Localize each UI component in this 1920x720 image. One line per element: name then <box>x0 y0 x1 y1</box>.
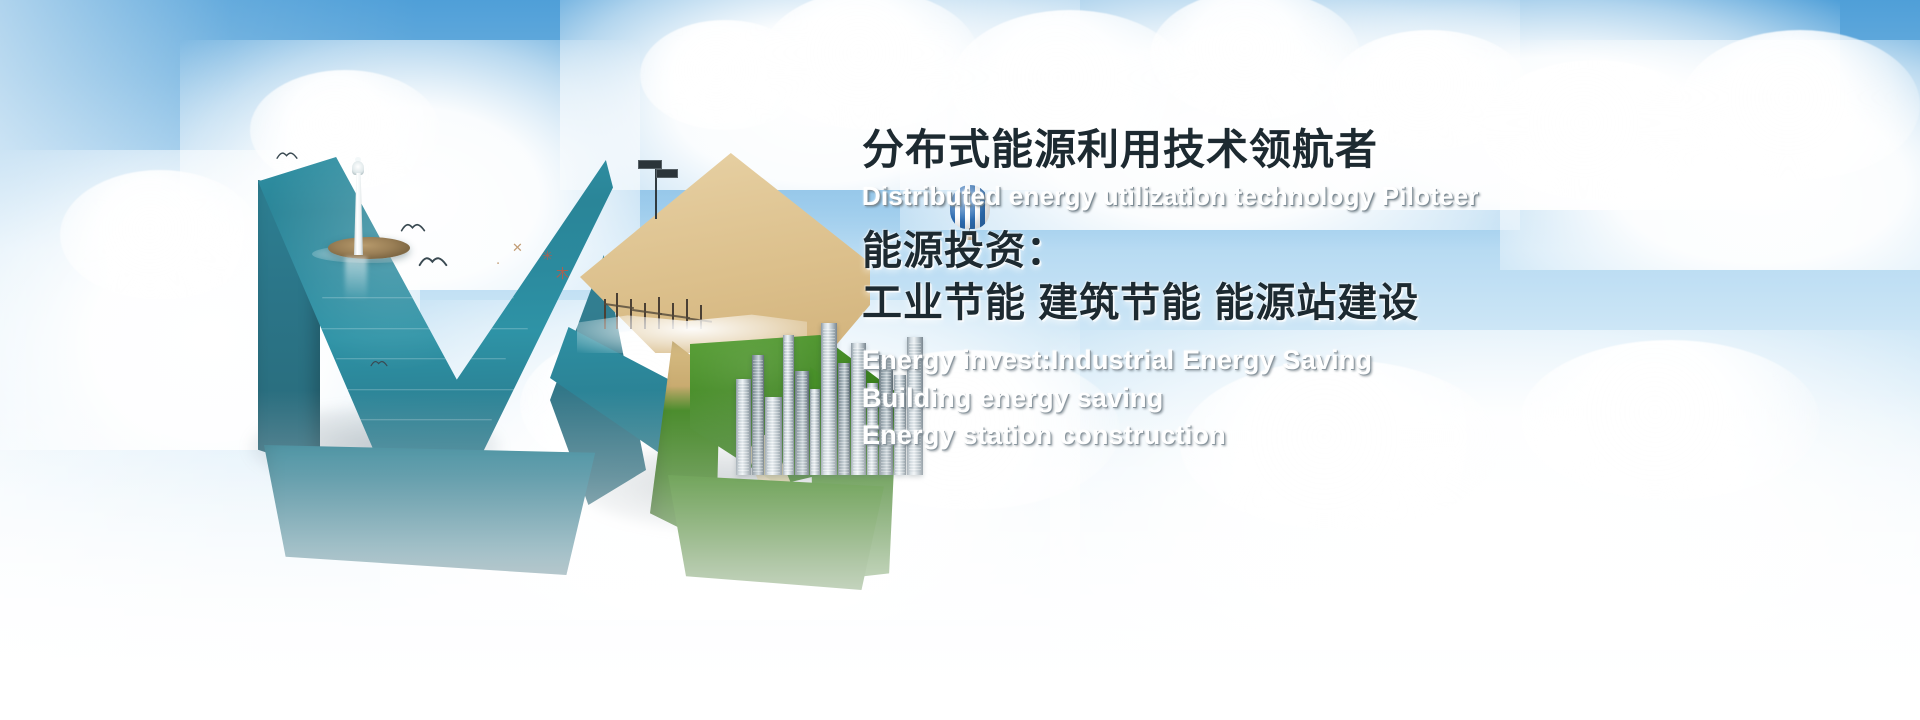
grass-front-face <box>668 475 893 590</box>
sand-marking: · <box>496 257 500 272</box>
services-english-line-2: Building energy saving <box>862 380 1862 417</box>
rocky-island <box>328 237 410 259</box>
ocean-front-face <box>264 445 624 575</box>
lighthouse-icon <box>350 157 366 257</box>
skyscraper <box>752 355 764 475</box>
seagull-icon <box>418 255 448 267</box>
skyscraper <box>736 379 751 475</box>
signpost-icon <box>638 155 682 219</box>
seagull-icon <box>370 360 388 367</box>
section-label-chinese: 能源投资： <box>862 229 1862 274</box>
headline-chinese: 分布式能源利用技术领航者 <box>862 128 1862 172</box>
lighthouse-reflection <box>345 257 367 301</box>
headline-english: Distributed energy utilization technolog… <box>862 182 1862 211</box>
services-english-line-3: Energy station construction <box>862 417 1862 454</box>
skyscraper <box>765 397 782 475</box>
w-letter-diorama: ✕✳木· <box>250 145 850 480</box>
skyscraper <box>838 363 850 475</box>
skyscraper <box>795 371 809 475</box>
sand-marking: ✕ <box>512 241 523 256</box>
skyscraper <box>783 335 794 475</box>
seagull-icon <box>400 222 425 232</box>
sand-marking: ✳ <box>542 249 553 264</box>
seagull-icon <box>276 151 298 160</box>
skyscraper <box>810 389 820 475</box>
services-chinese: 工业节能 建筑节能 能源站建设 <box>862 281 1862 326</box>
skyscraper <box>821 323 837 475</box>
hero-banner: ✕✳木· 分布式能源利用技术领航者 Distributed <box>0 0 1920 720</box>
sand-marking: 木 <box>556 263 569 282</box>
services-english-line-1: Energy invest:Industrial Energy Saving <box>862 342 1862 379</box>
banner-copy: 分布式能源利用技术领航者 Distributed energy utilizat… <box>862 128 1862 454</box>
